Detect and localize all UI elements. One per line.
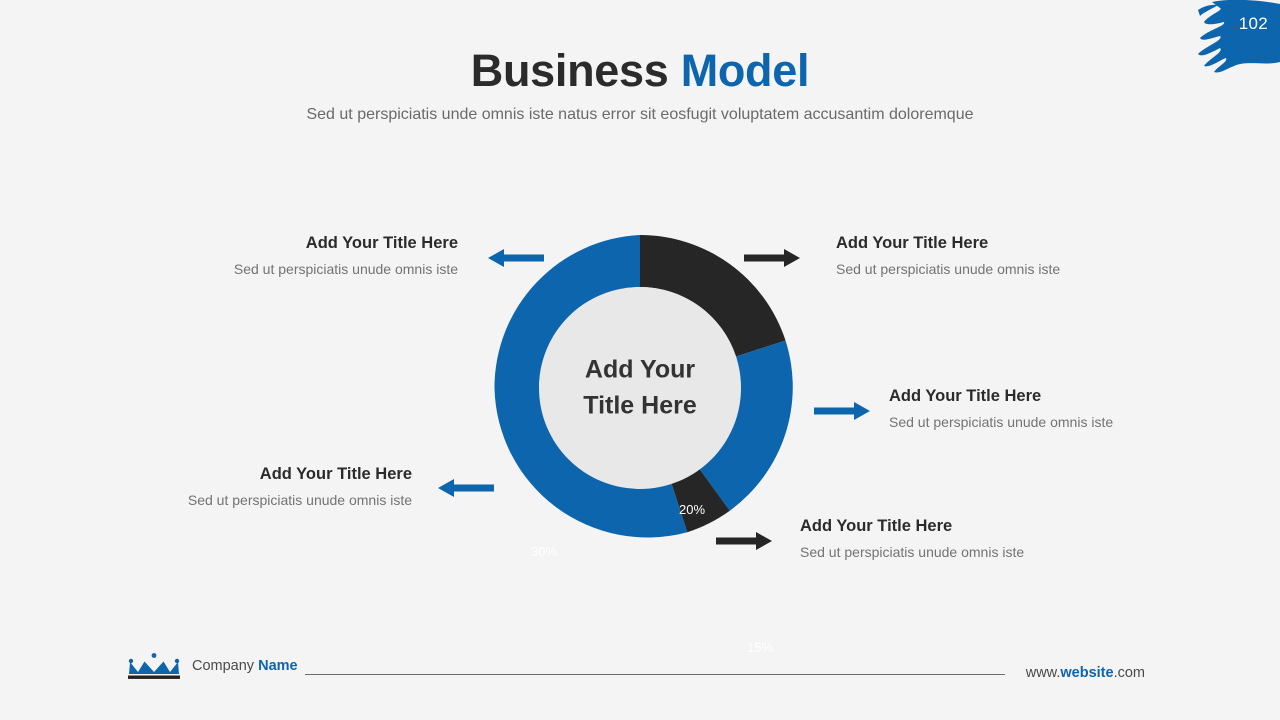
callout-middle-right[interactable]: Add Your Title Here Sed ut perspiciatis … — [889, 387, 1219, 430]
callout-bottom-right[interactable]: Add Your Title Here Sed ut perspiciatis … — [800, 517, 1130, 560]
callout-desc: Sed ut perspiciatis unude omnis iste — [48, 492, 412, 508]
donut-center-line1: Add Your — [540, 353, 740, 389]
footer-website[interactable]: www.website.com — [1026, 665, 1145, 681]
callout-desc: Sed ut perspiciatis unude omnis iste — [94, 261, 458, 277]
arrow-right-bottom — [716, 531, 772, 556]
arrow-right-top — [744, 248, 800, 273]
website-prefix: www. — [1026, 665, 1061, 681]
arrow-right-middle — [814, 401, 870, 426]
donut-chart: 20% 15% 10% 25% 30% Add Your Title Here — [487, 235, 793, 541]
callout-title: Add Your Title Here — [94, 234, 458, 253]
page-number: 102 — [1239, 14, 1268, 34]
footer-divider — [305, 674, 1005, 675]
website-accent: website — [1060, 665, 1113, 681]
donut-label-30: 30% — [531, 544, 557, 559]
donut-center-label: Add Your Title Here — [540, 353, 740, 424]
callout-top-left[interactable]: Add Your Title Here Sed ut perspiciatis … — [94, 234, 458, 277]
slide-root: 102 Business Model Sed ut perspiciatis u… — [0, 0, 1280, 720]
callout-desc: Sed ut perspiciatis unude omnis iste — [889, 414, 1219, 430]
page-subtitle: Sed ut perspiciatis unde omnis iste natu… — [0, 106, 1280, 124]
callout-title: Add Your Title Here — [889, 387, 1219, 406]
footer-logo: Company Name — [126, 652, 298, 680]
page-title: Business Model — [0, 45, 1280, 97]
company-name: Company Name — [192, 658, 298, 674]
callout-bottom-left[interactable]: Add Your Title Here Sed ut perspiciatis … — [48, 465, 412, 508]
page-title-accent: Model — [681, 45, 810, 96]
company-name-main: Company — [192, 658, 258, 674]
company-name-accent: Name — [258, 658, 298, 674]
arrow-left-top — [488, 248, 544, 273]
callout-title: Add Your Title Here — [800, 517, 1130, 536]
page-title-main: Business — [471, 45, 669, 96]
callout-top-right[interactable]: Add Your Title Here Sed ut perspiciatis … — [836, 234, 1166, 277]
arrow-left-bottom — [438, 478, 494, 503]
donut-label-20: 20% — [679, 502, 705, 517]
callout-desc: Sed ut perspiciatis unude omnis iste — [836, 261, 1166, 277]
crown-icon — [126, 652, 182, 680]
callout-title: Add Your Title Here — [836, 234, 1166, 253]
donut-center-line2: Title Here — [540, 388, 740, 424]
donut-label-15: 15% — [747, 640, 773, 655]
callout-desc: Sed ut perspiciatis unude omnis iste — [800, 544, 1130, 560]
callout-title: Add Your Title Here — [48, 465, 412, 484]
website-suffix: .com — [1114, 665, 1145, 681]
